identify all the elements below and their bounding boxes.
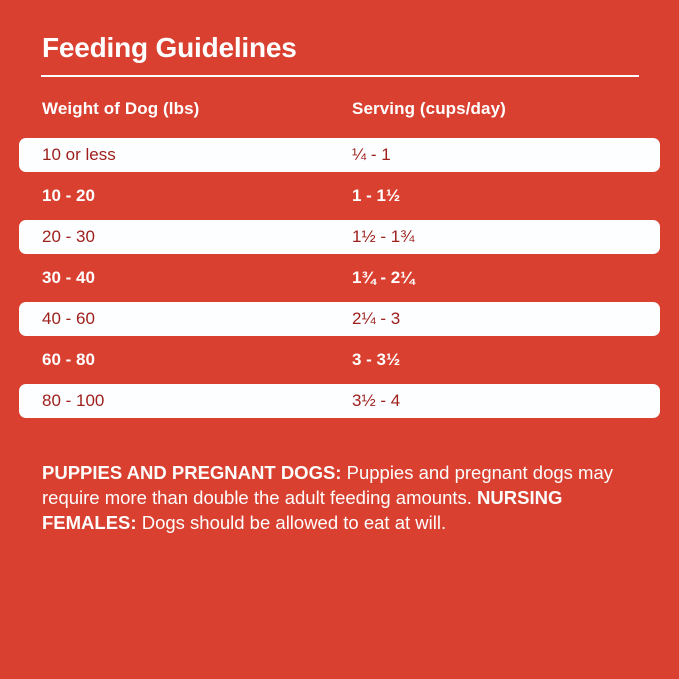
cell-weight: 30 - 40 — [42, 268, 95, 288]
table-header-row: Weight of Dog (lbs) Serving (cups/day) — [0, 96, 679, 138]
cell-weight: 40 - 60 — [42, 309, 95, 329]
feeding-footnote: PUPPIES AND PREGNANT DOGS: Puppies and p… — [42, 460, 642, 535]
column-header-weight: Weight of Dog (lbs) — [42, 99, 199, 119]
footnote-text-nursing: Dogs should be allowed to eat at will. — [137, 512, 447, 533]
table-row: 20 - 30 1½ - 1¾ — [19, 220, 660, 254]
table-row: 40 - 60 2¼ - 3 — [19, 302, 660, 336]
cell-weight: 60 - 80 — [42, 350, 95, 370]
feeding-guidelines-panel: Feeding Guidelines Weight of Dog (lbs) S… — [0, 0, 679, 679]
title-divider — [41, 75, 639, 77]
table-row: 10 or less ¼ - 1 — [19, 138, 660, 172]
cell-serving: 2¼ - 3 — [352, 309, 400, 329]
cell-serving: 3½ - 4 — [352, 391, 400, 411]
table-row: 30 - 40 1¾ - 2¼ — [0, 261, 679, 295]
cell-serving: 3 - 3½ — [352, 350, 400, 370]
cell-serving: 1 - 1½ — [352, 186, 400, 206]
table-row: 80 - 100 3½ - 4 — [19, 384, 660, 418]
cell-weight: 10 or less — [42, 145, 116, 165]
column-header-serving: Serving (cups/day) — [352, 99, 506, 119]
cell-weight: 20 - 30 — [42, 227, 95, 247]
table-row: 10 - 20 1 - 1½ — [0, 179, 679, 213]
feeding-table: Weight of Dog (lbs) Serving (cups/day) 1… — [0, 96, 679, 425]
cell-weight: 10 - 20 — [42, 186, 95, 206]
table-row: 60 - 80 3 - 3½ — [0, 343, 679, 377]
cell-serving: 1¾ - 2¼ — [352, 268, 414, 288]
page-title: Feeding Guidelines — [42, 32, 297, 64]
cell-serving: 1½ - 1¾ — [352, 227, 414, 247]
cell-serving: ¼ - 1 — [352, 145, 391, 165]
cell-weight: 80 - 100 — [42, 391, 104, 411]
footnote-label-puppies: PUPPIES AND PREGNANT DOGS: — [42, 462, 341, 483]
